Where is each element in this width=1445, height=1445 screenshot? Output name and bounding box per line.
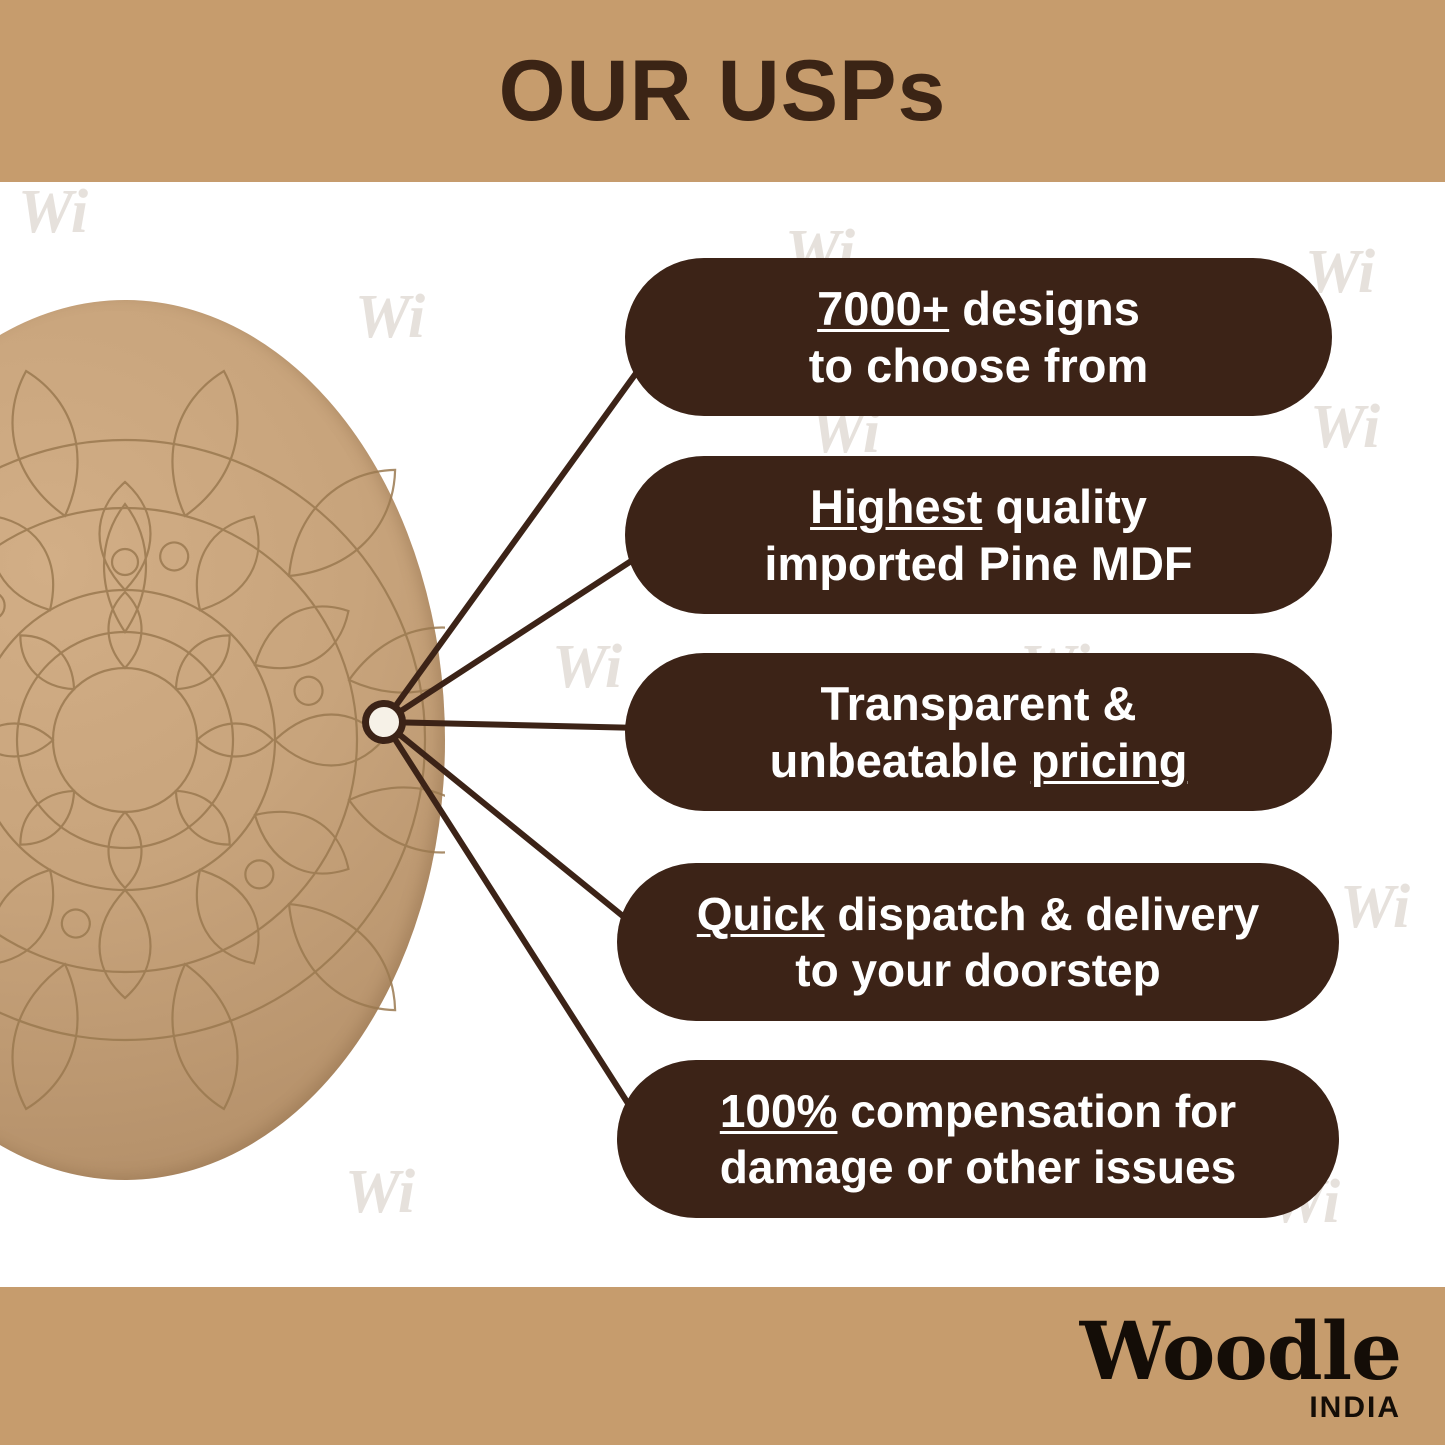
watermark-text: Wi: [1340, 872, 1410, 943]
usp-rest: Transparent &: [820, 677, 1136, 730]
usp-emphasis: Quick: [697, 888, 825, 940]
usp-infographic: OUR USPs Wi Wi Wi Wi Wi Wi Wi Wi Wi Wi W…: [0, 0, 1445, 1445]
usp-card-dispatch-delivery[interactable]: Quick dispatch & delivery to your doorst…: [617, 863, 1339, 1021]
usp-card-material-quality[interactable]: Highest quality imported Pine MDF: [625, 456, 1332, 614]
usp-card-designs-count[interactable]: 7000+ designs to choose from: [625, 258, 1332, 416]
usp-text: 7000+ designs to choose from: [809, 280, 1148, 395]
connector-hub: [362, 700, 406, 744]
usp-rest: compensation for: [837, 1085, 1236, 1137]
usp-card-pricing[interactable]: Transparent & unbeatable pricing: [625, 653, 1332, 811]
usp-line2: imported Pine MDF: [764, 537, 1192, 590]
usp-line2-pre: unbeatable: [770, 734, 1031, 787]
usp-line2: to your doorstep: [795, 944, 1160, 996]
usp-rest: designs: [949, 282, 1140, 335]
usp-text: 100% compensation for damage or other is…: [720, 1083, 1236, 1195]
usp-line2: to choose from: [809, 339, 1148, 392]
usp-emphasis: 7000+: [817, 282, 949, 335]
usp-rest: quality: [982, 480, 1147, 533]
watermark-text: Wi: [18, 182, 88, 248]
usp-line2: damage or other issues: [720, 1141, 1236, 1193]
watermark-text: Wi: [1310, 392, 1380, 463]
page-title: OUR USPs: [0, 0, 1445, 182]
brand-logo: Woodle INDIA: [1080, 1311, 1401, 1423]
usp-text: Quick dispatch & delivery to your doorst…: [697, 886, 1259, 998]
usp-emphasis: pricing: [1031, 734, 1188, 787]
watermark-text: Wi: [552, 632, 622, 703]
usp-rest: dispatch & delivery: [825, 888, 1260, 940]
brand-name: Woodle: [1080, 1311, 1401, 1391]
usp-emphasis: Highest: [810, 480, 982, 533]
usp-text: Highest quality imported Pine MDF: [764, 478, 1192, 593]
usp-emphasis: 100%: [720, 1085, 838, 1137]
usp-text: Transparent & unbeatable pricing: [770, 675, 1188, 790]
usp-card-compensation[interactable]: 100% compensation for damage or other is…: [617, 1060, 1339, 1218]
